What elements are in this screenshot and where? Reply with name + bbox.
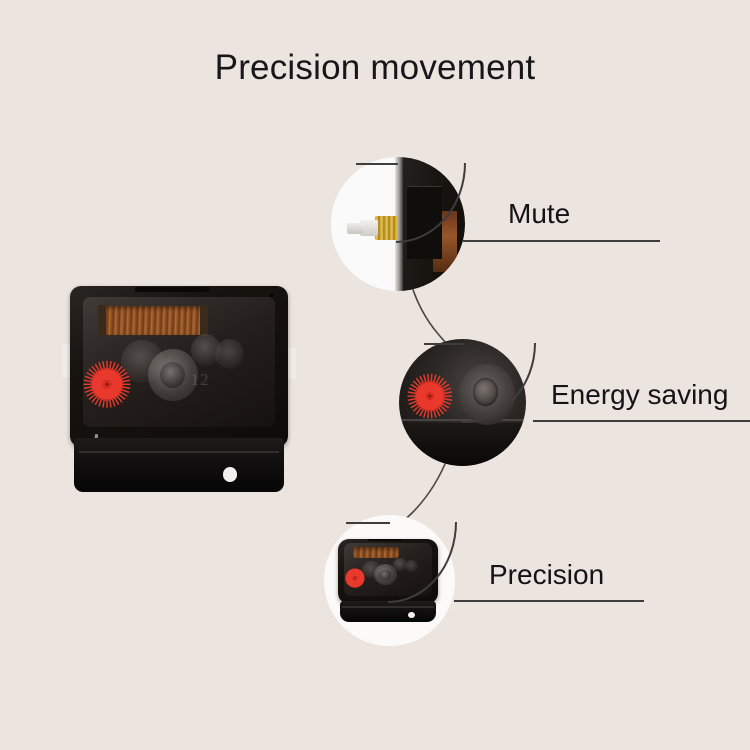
hero-battery-base bbox=[74, 438, 283, 492]
callout-label-mute: Mute bbox=[508, 197, 570, 231]
precision-battery-base bbox=[340, 601, 436, 623]
hero-top-notch bbox=[135, 287, 209, 293]
hero-base-ridge bbox=[79, 451, 280, 453]
hero-coil-cap-left bbox=[98, 305, 106, 336]
hero-emboss-text: 12 bbox=[191, 370, 268, 391]
hero-base-contact-dot bbox=[223, 467, 237, 481]
callout-label-energy-saving: Energy saving bbox=[551, 378, 728, 412]
leader-rule-precision bbox=[454, 600, 644, 602]
energy-housing-band bbox=[399, 423, 526, 466]
leader-stub-energy-saving bbox=[424, 343, 464, 345]
hero-coil-cap-right bbox=[200, 305, 208, 336]
precision-base-ridge bbox=[342, 606, 434, 608]
leader-stub-mute bbox=[356, 163, 398, 165]
mute-brass-threaded-shaft bbox=[375, 216, 398, 240]
hero-product-image: 12 bbox=[70, 286, 288, 492]
leader-rule-energy-saving bbox=[533, 420, 750, 422]
mute-white-spindle-tip bbox=[347, 223, 363, 234]
mute-white-spindle-collar bbox=[360, 220, 377, 236]
infographic-canvas: Precision movement Mute bbox=[0, 0, 750, 750]
hero-gear-hub bbox=[160, 362, 185, 388]
hero-gear-small-2 bbox=[215, 339, 244, 369]
precision-red-gear bbox=[344, 567, 366, 589]
hero-shell: 12 bbox=[70, 286, 288, 447]
leader-stub-precision bbox=[346, 522, 390, 524]
hero-copper-coil bbox=[102, 306, 202, 335]
page-title: Precision movement bbox=[0, 46, 750, 90]
leader-rule-mute bbox=[463, 240, 660, 242]
precision-base-contact-dot bbox=[408, 612, 414, 618]
energy-red-gear bbox=[407, 372, 453, 420]
hero-red-gear bbox=[83, 357, 131, 412]
callout-label-precision: Precision bbox=[489, 558, 604, 592]
